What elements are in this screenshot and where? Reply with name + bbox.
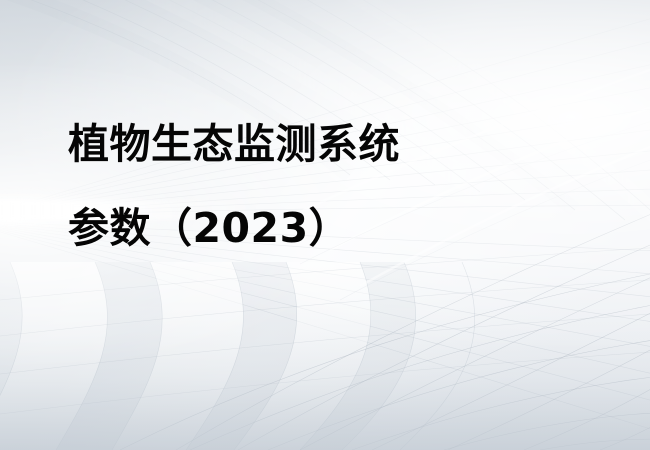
title-slide: 植物生态监测系统 参数（2023） xyxy=(0,0,650,450)
page-title: 植物生态监测系统 参数（2023） xyxy=(68,122,628,250)
title-line-1: 植物生态监测系统 xyxy=(68,122,628,166)
title-line-2: 参数（2023） xyxy=(68,206,628,250)
